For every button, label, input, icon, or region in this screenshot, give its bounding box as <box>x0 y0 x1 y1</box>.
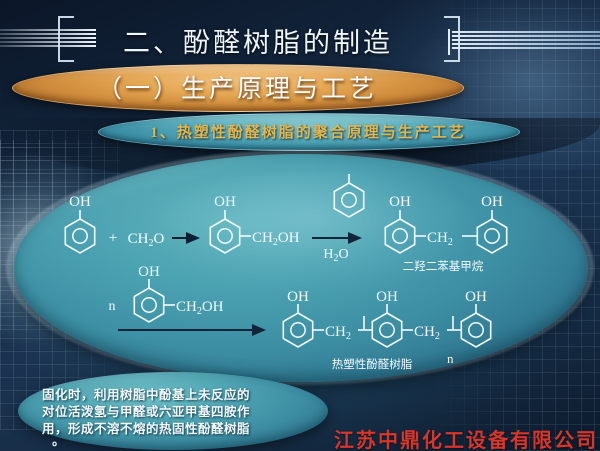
note-text-block: 固化时，利用树脂中酚基上未反应的 对位活泼氢与甲醛或六亚甲基四胺作 用，形成不溶… <box>30 378 318 446</box>
section-heading-label: （一）生产原理与工艺 <box>12 64 462 110</box>
note-line-4: 。 <box>52 430 65 449</box>
decorative-stripes-right <box>452 31 600 51</box>
note-line-3: 用，形成不溶不熔的热固性酚醛树脂 <box>42 421 318 438</box>
page-title: 二、酚醛树脂的制造 <box>62 19 454 61</box>
note-line-2: 对位活泼氢与甲醛或六亚甲基四胺作 <box>42 404 318 421</box>
note-line-1: 固化时，利用树脂中酚基上未反应的 <box>42 387 318 404</box>
sub-heading-label: 1、热塑性酚醛树脂的聚合原理与生产工艺 <box>98 113 518 149</box>
main-content-ellipse <box>14 154 588 382</box>
slide-canvas: 二、酚醛树脂的制造 （一）生产原理与工艺 1、热塑性酚醛树脂的聚合原理与生产工艺 <box>0 0 600 451</box>
company-watermark: 江苏中鼎化工设备有限公司 <box>334 424 598 451</box>
